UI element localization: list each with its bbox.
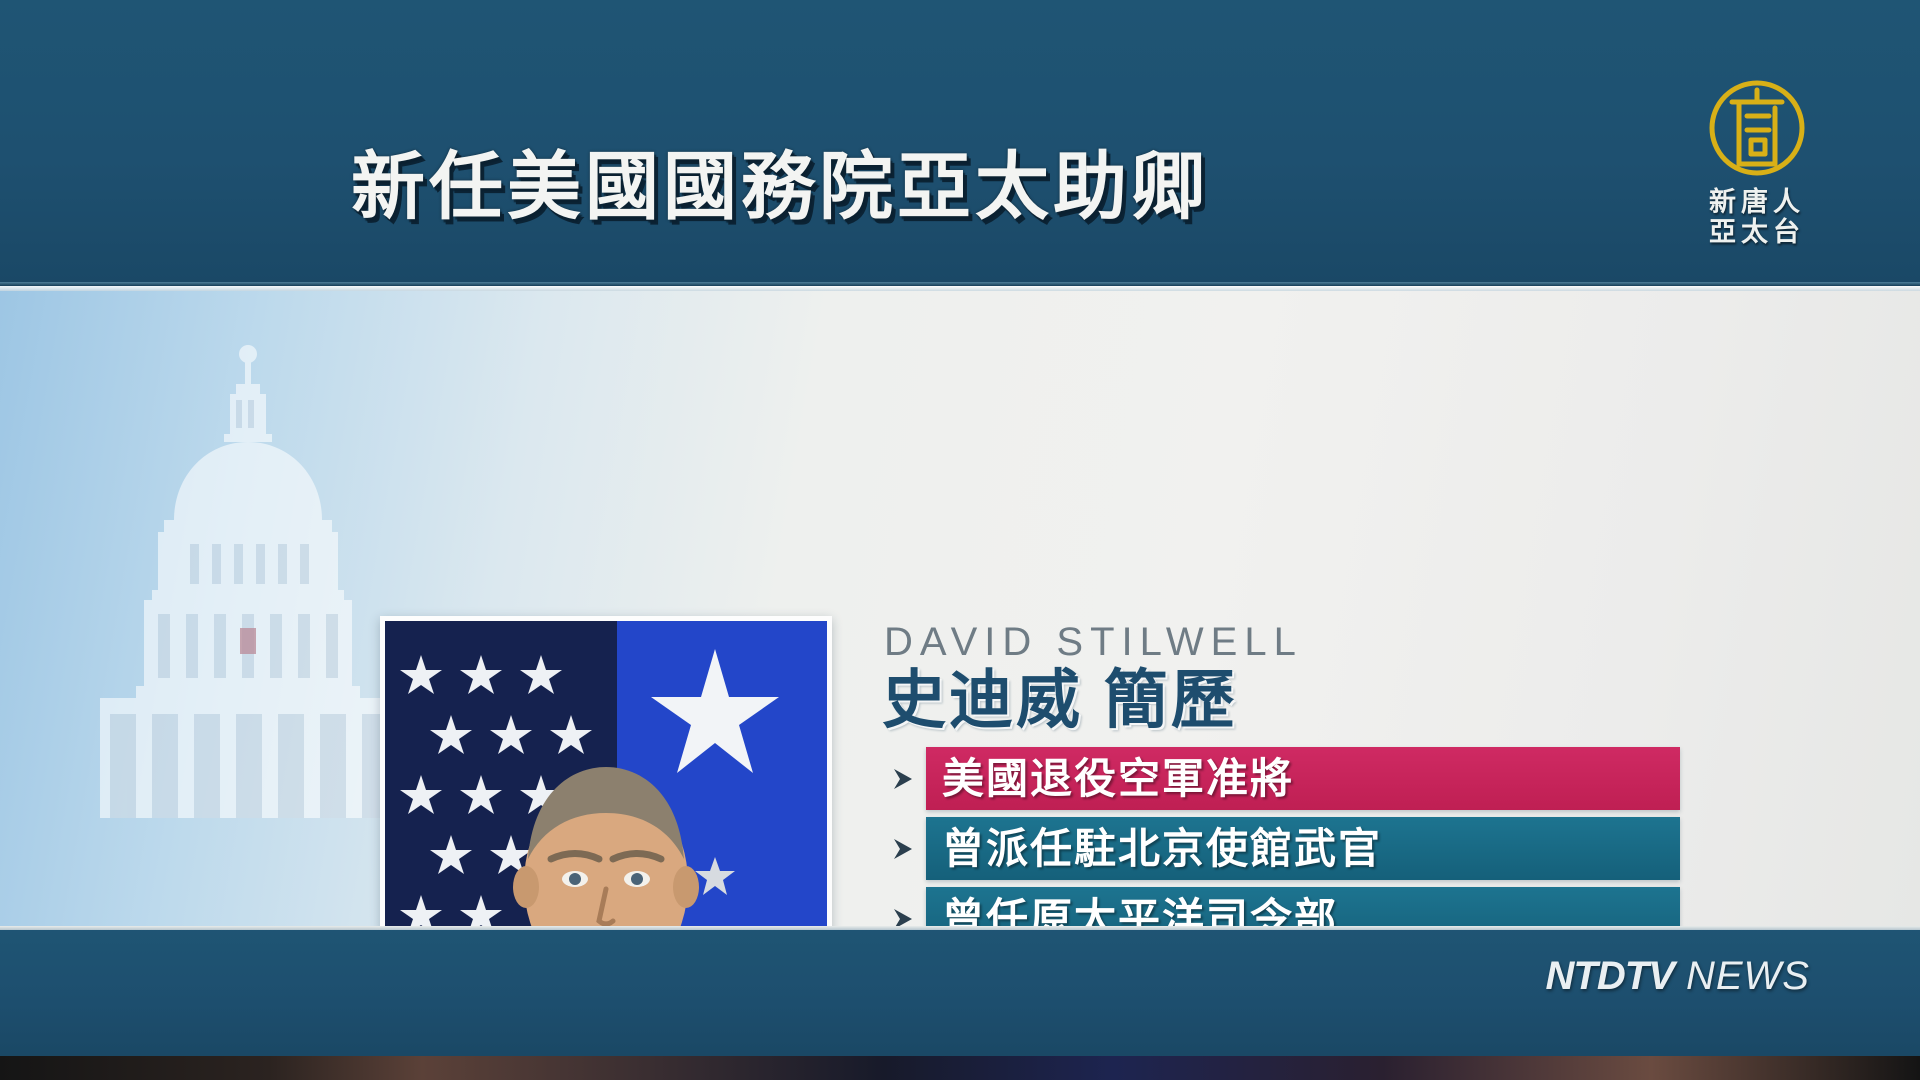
bio-bar-2-text: 曾派任駐北京使館武官 xyxy=(942,828,1382,870)
network-watermark: NTDTV NEWS xyxy=(1546,954,1810,999)
bio-bar-1-text: 美國退役空軍准將 xyxy=(942,758,1294,800)
arrow-right-icon xyxy=(880,747,926,810)
portrait-frame xyxy=(380,616,832,926)
watermark-suffix: NEWS xyxy=(1674,954,1810,998)
subject-info-column: DAVID STILWELL 史迪威 簡歷 美國退役空軍准將 xyxy=(880,622,1680,926)
footer-band: NTDTV NEWS xyxy=(0,926,1920,1056)
ntd-tang-seal-logo xyxy=(1699,72,1815,188)
watermark-brand: NTDTV xyxy=(1546,954,1674,998)
subject-name-english: DAVID STILWELL xyxy=(880,622,1680,662)
bio-bar-3-text: 曾任原太平洋司令部 xyxy=(942,898,1338,926)
subject-name-chinese: 史迪威 簡歷 xyxy=(880,666,1680,735)
page-title: 新任美國國務院亞太助卿 xyxy=(0,150,1560,224)
bio-bullet-list: 美國退役空軍准將 曾派任駐北京使館武官 xyxy=(880,747,1680,926)
list-item: 曾任原太平洋司令部 xyxy=(880,887,1680,926)
bio-bar-3: 曾任原太平洋司令部 xyxy=(926,887,1680,926)
broadcast-screen: 新任美國國務院亞太助卿 xyxy=(0,0,1920,1080)
panel-top-divider xyxy=(0,286,1920,291)
arrow-right-icon xyxy=(880,817,926,880)
bio-bar-1: 美國退役空軍准將 xyxy=(926,747,1680,810)
logo-line-1: 新唐人 xyxy=(1672,188,1842,217)
arrow-right-icon xyxy=(880,887,926,926)
portrait-photo xyxy=(385,621,827,926)
header-band: 新任美國國務院亞太助卿 xyxy=(0,0,1920,286)
channel-logo: 新唐人 亞太台 xyxy=(1672,72,1842,246)
logo-line-2: 亞太台 xyxy=(1672,218,1842,247)
list-item: 美國退役空軍准將 xyxy=(880,747,1680,810)
main-graphic-panel: DAVID STILWELL 史迪威 簡歷 美國退役空軍准將 xyxy=(0,286,1920,926)
list-item: 曾派任駐北京使館武官 xyxy=(880,817,1680,880)
bio-bar-2: 曾派任駐北京使館武官 xyxy=(926,817,1680,880)
